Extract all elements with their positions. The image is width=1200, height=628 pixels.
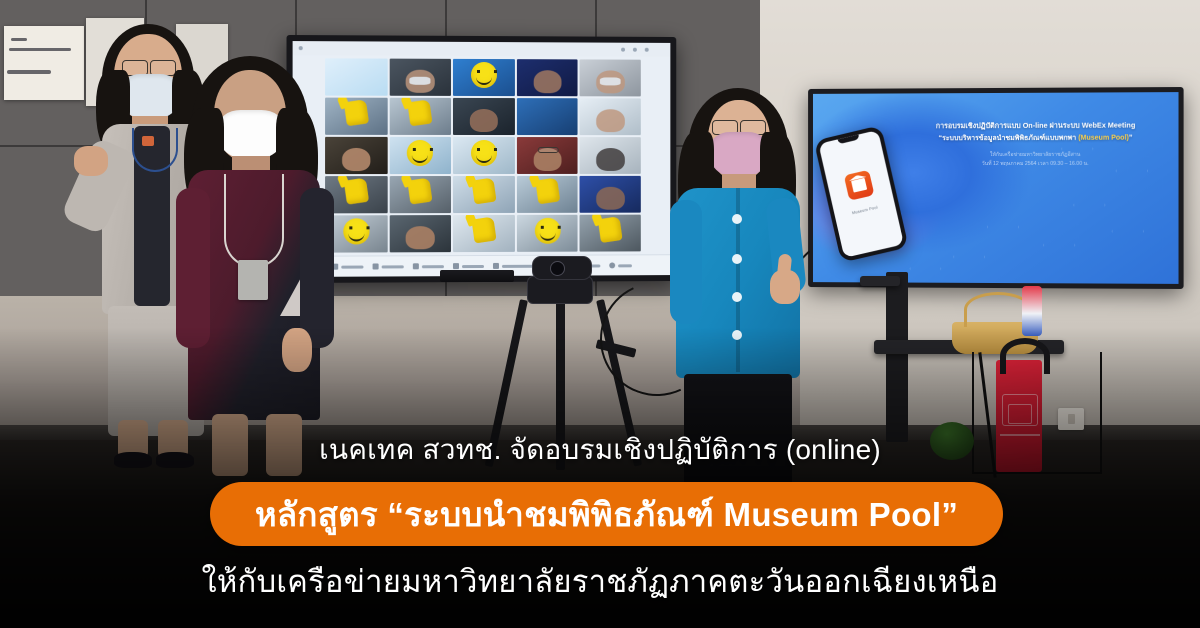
course-title-text: หลักสูตร “ระบบนำชมพิพิธภัณฑ์ Museum Pool… xyxy=(255,488,958,541)
slide-subtitle-line1: ให้กับเครือข่ายมหาวิทยาลัยราชภัฏอีสาน xyxy=(904,151,1169,160)
webcam-lens xyxy=(550,261,565,276)
caption-line-bottom: ให้กับเครือข่ายมหาวิทยาลัยราชภัฏภาคตะวัน… xyxy=(0,556,1200,606)
participant-tile[interactable] xyxy=(389,59,451,96)
participants-button[interactable] xyxy=(493,263,536,269)
participant-tile[interactable] xyxy=(517,137,578,174)
participant-tile[interactable] xyxy=(389,176,451,213)
slide-subtitle-line2: วันที่ 12 พฤษภาคม 2564 เวลา 09.30 – 16.0… xyxy=(904,160,1169,169)
blouse-button xyxy=(732,292,742,302)
vc-titlebar xyxy=(293,41,671,57)
chat-button[interactable] xyxy=(609,262,632,268)
blouse-button xyxy=(732,254,742,264)
participant-tile[interactable] xyxy=(517,59,578,96)
participant-tile[interactable] xyxy=(517,98,578,135)
museum-building-glyph xyxy=(851,177,867,192)
participant-tile[interactable] xyxy=(389,215,451,252)
arm-left xyxy=(176,188,210,348)
lanyard xyxy=(224,174,284,268)
museum-pool-app-icon xyxy=(844,169,875,200)
participant-tile[interactable] xyxy=(389,98,451,135)
stop-video-button[interactable] xyxy=(373,263,404,269)
participant-tile[interactable] xyxy=(453,98,515,135)
participant-tile[interactable] xyxy=(580,98,641,135)
participant-tile[interactable] xyxy=(580,137,641,174)
slide-text-block: การอบรมเชิงปฏิบัติการแบบ On-line ผ่านระบ… xyxy=(904,120,1169,168)
face-mask xyxy=(218,110,284,160)
slide-title-tail: ” xyxy=(1129,134,1133,141)
participant-tile[interactable] xyxy=(453,137,515,174)
participant-tile[interactable] xyxy=(580,59,641,96)
slide-title-line2: “ระบบบริหารข้อมูลนำชมพิพิธภัณฑ์แบบพกพา (… xyxy=(904,132,1169,144)
id-badge xyxy=(238,260,268,300)
left-display-stand xyxy=(440,270,514,282)
participant-tile[interactable] xyxy=(517,215,578,252)
record-button[interactable] xyxy=(453,263,484,269)
promo-banner-image: Museum Pool การอบรมเชิงปฏิบัติการแบบ On-… xyxy=(0,0,1200,628)
participant-tile[interactable] xyxy=(389,137,451,174)
participant-tile[interactable] xyxy=(580,176,641,213)
app-icon-label: Museum Pool xyxy=(835,201,896,220)
participant-tile[interactable] xyxy=(453,176,515,213)
participant-tile[interactable] xyxy=(453,215,515,252)
share-button[interactable] xyxy=(413,263,444,269)
tripod-head xyxy=(527,276,593,304)
participant-tile[interactable] xyxy=(517,176,578,213)
hand-pointing xyxy=(74,146,108,176)
course-title-banner: หลักสูตร “ระบบนำชมพิพิธภัณฑ์ Museum Pool… xyxy=(210,482,1003,546)
participant-tile[interactable] xyxy=(580,215,641,252)
slide-title-plain: “ระบบบริหารข้อมูลนำชมพิพิธภัณฑ์แบบพกพา xyxy=(939,135,1079,142)
participant-tile[interactable] xyxy=(453,59,515,96)
blouse-button xyxy=(732,214,742,224)
slide-title-highlight: (Museum Pool) xyxy=(1078,134,1129,141)
slide-title-line1: การอบรมเชิงปฏิบัติการแบบ On-line ผ่านระบ… xyxy=(904,120,1169,132)
arm-right xyxy=(300,188,334,348)
arm-left xyxy=(670,200,702,324)
id-clip xyxy=(142,136,154,146)
caption-line-top: เนคเทค สวทช. จัดอบรมเชิงปฏิบัติการ (onli… xyxy=(0,428,1200,472)
